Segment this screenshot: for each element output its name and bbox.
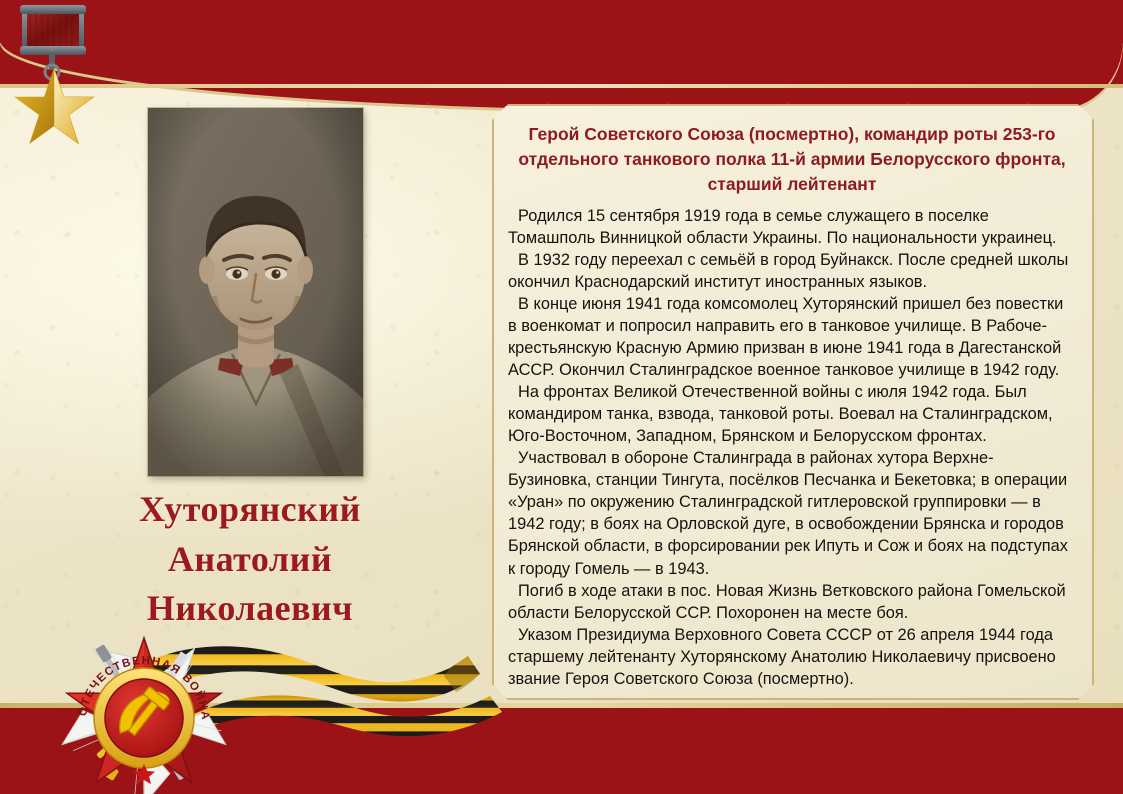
memorial-slide: Хуторянский Анатолий Николаевич — [0, 0, 1123, 794]
hero-surname: Хуторянский — [40, 485, 460, 535]
biography-text: Родился 15 сентября 1919 года в семье сл… — [508, 205, 1076, 690]
biography-paragraph: Родился 15 сентября 1919 года в семье сл… — [508, 205, 1076, 249]
biography-panel: Герой Советского Союза (посмертно), кома… — [492, 104, 1094, 700]
biography-paragraph: Погиб в ходе атаки в пос. Новая Жизнь Ве… — [508, 580, 1076, 624]
gold-star-medal-icon — [8, 2, 120, 152]
gold-divider-top — [0, 84, 1123, 88]
biography-paragraph: В конце июня 1941 года комсомолец Хуторя… — [508, 293, 1076, 381]
biography-paragraph: Указом Президиума Верховного Совета СССР… — [508, 624, 1076, 690]
biography-paragraph: На фронтах Великой Отечественной войны с… — [508, 381, 1076, 447]
panel-heading: Герой Советского Союза (посмертно), кома… — [514, 122, 1070, 197]
hero-given-name: Анатолий — [40, 535, 460, 585]
order-of-patriotic-war-icon: ОТЕЧЕСТВЕННАЯ ВОЙНА — [36, 618, 251, 794]
hero-portrait-photo — [148, 108, 363, 476]
biography-paragraph: В 1932 году переехал с семьёй в город Бу… — [508, 249, 1076, 293]
biography-paragraph: Участвовал в обороне Сталинграда в район… — [508, 447, 1076, 579]
